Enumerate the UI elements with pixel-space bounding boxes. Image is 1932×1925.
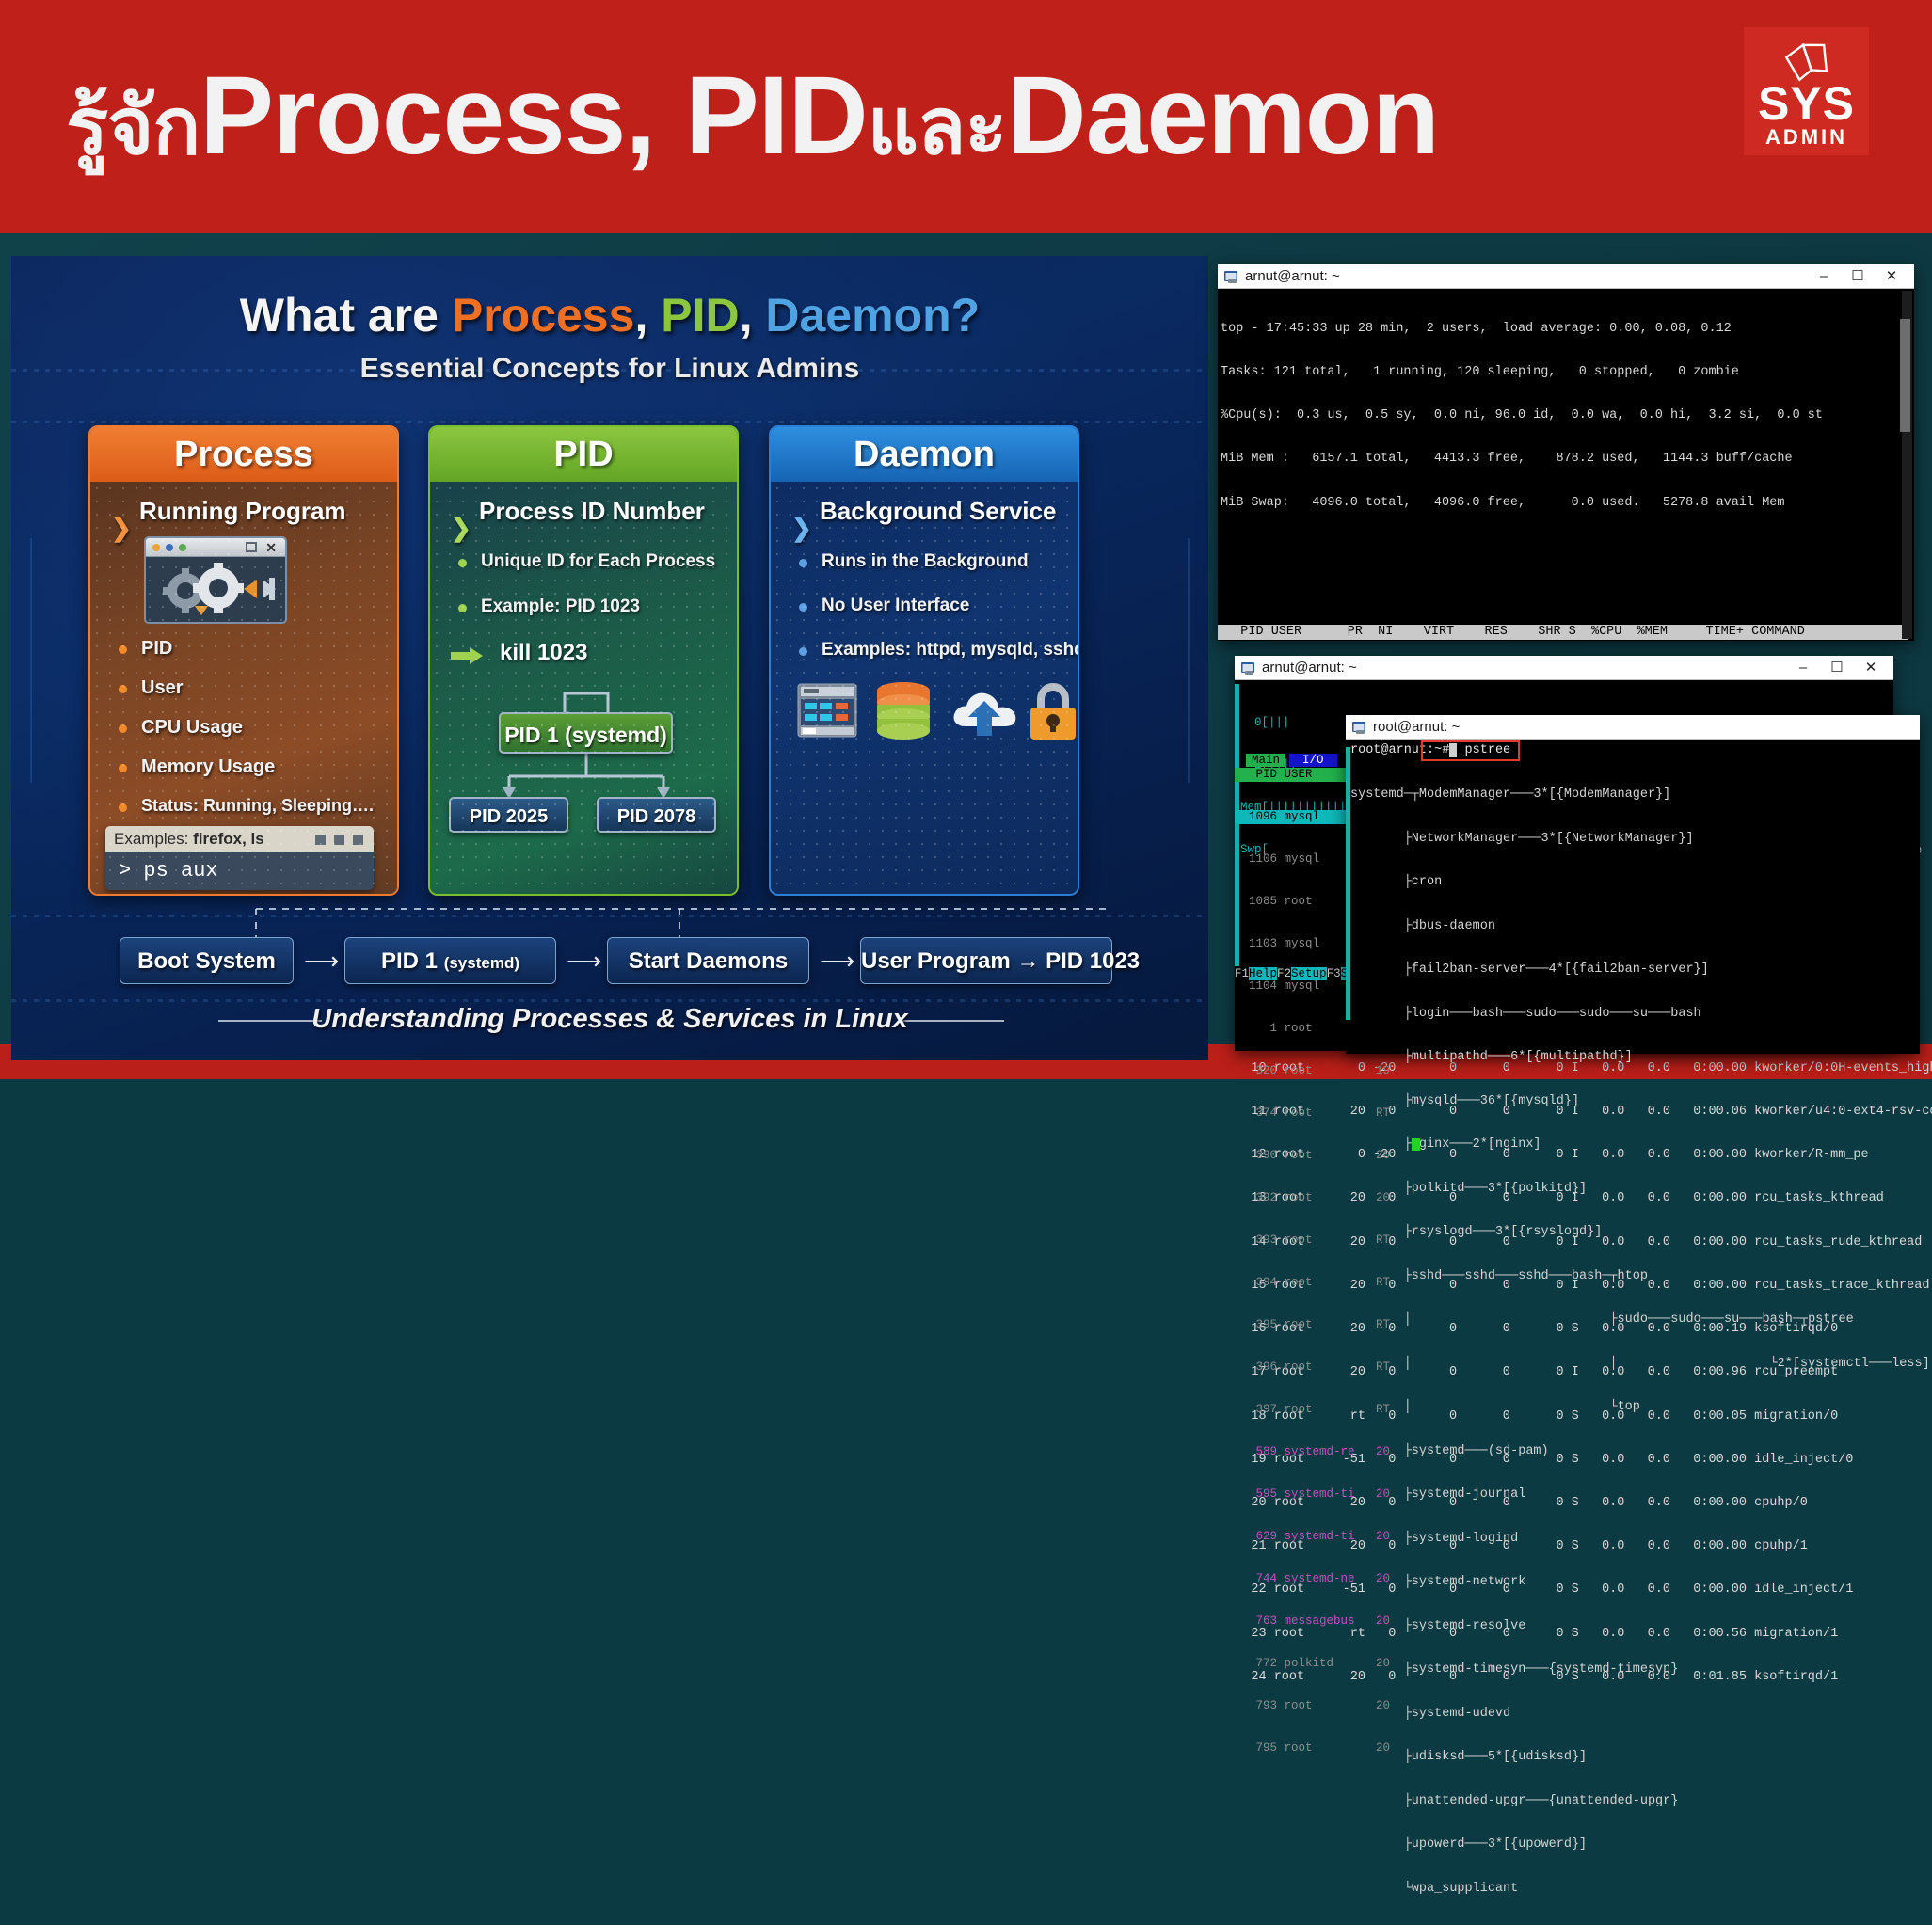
card-daemon-body: ❯ Background Service Runs in the Backgro…: [771, 482, 1078, 896]
pstree-output: systemd─┬ModemManager───3*[{ModemManager…: [1350, 758, 1930, 1925]
titlebar-title-pstree: root@arnut: ~: [1373, 719, 1460, 735]
database-icon: [874, 681, 933, 740]
card-pid-lead-text: Process ID Number: [479, 497, 705, 526]
top-line-cpu: %Cpu(s): 0.3 us, 0.5 sy, 0.0 ni, 96.0 id…: [1221, 408, 1823, 422]
titlebar-htop[interactable]: arnut@arnut: ~ – ☐ ✕: [1235, 656, 1893, 680]
bullet-text: Example: PID 1023: [481, 597, 640, 616]
command-text: ps aux: [143, 859, 217, 883]
list-item: No User Interface: [797, 596, 1070, 616]
list-item: Runs in the Background: [797, 551, 1070, 572]
top-summary-block: top - 17:45:33 up 28 min, 2 users, load …: [1221, 293, 1823, 539]
list-item: PID: [117, 638, 390, 660]
process-lifecycle-flow: Boot System ⟶ PID 1 (systemd) ⟶ Start Da…: [120, 937, 1112, 984]
pstree-line: ├cron: [1350, 875, 1930, 890]
minimize-button[interactable]: –: [1794, 659, 1812, 677]
fkey-f2[interactable]: F2: [1277, 967, 1291, 980]
terminal-strip-command: > ps aux: [105, 852, 374, 890]
card-pid-title: PID: [430, 427, 737, 482]
terminal-window-pstree[interactable]: root@arnut: ~ root@arnut:~# pstree syste…: [1346, 715, 1920, 1054]
top-line-uptime: top - 17:45:33 up 28 min, 2 users, load …: [1221, 322, 1823, 336]
htop-tab-bar[interactable]: MainI/O: [1246, 754, 1337, 768]
card-process-body: ❯ Running Program ✕: [90, 482, 397, 896]
titlebar-title-top: arnut@arnut: ~: [1245, 268, 1340, 284]
flow-step-boot[interactable]: Boot System: [120, 937, 294, 984]
logo-admin-text: ADMIN: [1744, 127, 1869, 148]
fkey-f1[interactable]: F1: [1235, 967, 1249, 980]
title-word-pid: PID: [661, 289, 739, 342]
tree-node-child-2: PID 2078: [597, 797, 716, 833]
fkey-f3[interactable]: F3: [1327, 967, 1341, 980]
pstree-line: ├udisksd───5*[{udisksd}]: [1350, 1750, 1930, 1765]
terminal-icon: [1241, 660, 1256, 676]
pstree-line: ├systemd-network: [1350, 1575, 1930, 1590]
server-window-icon: [797, 683, 857, 738]
bullet-text: CPU Usage: [141, 717, 243, 738]
pstree-line: ├dbus-daemon: [1350, 919, 1930, 934]
close-button[interactable]: ✕: [1861, 659, 1880, 677]
card-daemon-bullets: Runs in the Background No User Interface…: [797, 551, 1070, 660]
title-sep-2: ,: [740, 289, 766, 342]
pstree-line: ├rsyslogd───3*[{rsyslogd}]: [1350, 1225, 1930, 1240]
pid-tree-diagram: PID 1 (systemd) PID 2025 PID 2078: [441, 684, 729, 844]
pstree-line: │ ├sudo───sudo───su───bash─┬pstree: [1350, 1312, 1930, 1328]
pstree-line: │ └top: [1350, 1400, 1930, 1415]
window-icon-titlebar: ✕: [146, 538, 285, 557]
pstree-line: ├systemd-logind: [1350, 1532, 1930, 1547]
titlebar-title-htop: arnut@arnut: ~: [1262, 660, 1357, 676]
arrow-right-icon: [451, 647, 485, 664]
terminal-icon: [1224, 269, 1239, 284]
maximize-button[interactable]: ☐: [1848, 267, 1867, 286]
top-line-tasks: Tasks: 121 total, 1 running, 120 sleepin…: [1221, 365, 1823, 379]
terminal-strip-label: Examples: firefox, ls: [114, 830, 264, 849]
card-pid-bullets: Unique ID for Each Process Example: PID …: [456, 551, 729, 617]
card-process-lead-text: Running Program: [139, 497, 346, 526]
flow-step-user-program[interactable]: User Program → PID 1023: [860, 937, 1112, 984]
title-thai-mid: และ: [868, 82, 1007, 170]
card-process-title: Process: [90, 427, 397, 482]
tree-node-root: PID 1 (systemd): [499, 712, 673, 754]
minimize-button[interactable]: –: [1814, 267, 1833, 286]
pstree-line: ├unattended-upgr───{unattended-upgr}: [1350, 1794, 1930, 1809]
pstree-line: ├login───bash───sudo───sudo───su───bash: [1350, 1007, 1930, 1022]
top-line-mem: MiB Mem : 6157.1 total, 4413.3 free, 878…: [1221, 452, 1823, 466]
page-header: รู้จักProcess, PIDและDaemon SYS ADMIN: [0, 0, 1932, 233]
card-process-bullets: PID User CPU Usage Memory Usage Status: …: [117, 638, 390, 816]
kill-command-text: kill 1023: [500, 640, 587, 666]
flow-step-pid1-label: PID 1: [381, 948, 444, 974]
gears-window-icon: ✕: [144, 536, 287, 624]
pstree-line: ├systemd───(sd-pam): [1350, 1444, 1930, 1459]
pstree-line: ├systemd-journal: [1350, 1487, 1930, 1503]
card-pid: PID ❯ Process ID Number Unique ID for Ea…: [428, 425, 739, 896]
bullet-text: Unique ID for Each Process: [481, 551, 715, 571]
scrollbar-thumb[interactable]: [1900, 319, 1910, 432]
infographic-panel: What are Process, PID, Daemon? Essential…: [11, 256, 1208, 1060]
pstree-line: │ │ └2*[systemctl───less]: [1350, 1357, 1930, 1372]
list-item: Example: PID 1023: [456, 597, 729, 617]
list-item: Status: Running, Sleeping….: [117, 796, 390, 816]
bullet-text: Status: Running, Sleeping….: [141, 796, 374, 815]
infographic-footer: Understanding Processes & Services in Li…: [11, 1004, 1208, 1035]
list-item: Examples: httpd, mysqld, sshd: [797, 640, 1070, 660]
bullet-text: PID: [141, 638, 172, 659]
terminal-strip-titlebar: Examples: firefox, ls: [105, 826, 374, 852]
cloud-upload-icon: [950, 685, 1019, 740]
pstree-line: systemd─┬ModemManager───3*[{ModemManager…: [1350, 787, 1930, 803]
title-sep-1: ,: [634, 289, 661, 342]
bullet-text: Runs in the Background: [822, 551, 1029, 571]
card-pid-body: ❯ Process ID Number Unique ID for Each P…: [430, 482, 737, 896]
sysadmin-logo: SYS ADMIN: [1744, 27, 1869, 155]
terminal-icon: [1352, 720, 1367, 735]
logo-sys-text: SYS: [1744, 80, 1869, 127]
fkey-f2-label[interactable]: Setup: [1291, 967, 1327, 980]
close-button[interactable]: ✕: [1882, 267, 1901, 286]
card-daemon-lead-text: Background Service: [820, 497, 1056, 526]
flow-step-pid1[interactable]: PID 1 (systemd): [344, 937, 556, 984]
bullet-text: User: [141, 677, 183, 698]
pstree-line: ├multipathd───6*[{multipathd}]: [1350, 1050, 1930, 1065]
flow-arrow-icon: ⟶: [567, 953, 601, 968]
chevron-right-icon: ❯: [451, 514, 471, 543]
bullet-text: No User Interface: [822, 596, 969, 615]
list-item: User: [117, 677, 390, 699]
infographic-title: What are Process, PID, Daemon?: [11, 288, 1208, 342]
padlock-icon: [1028, 682, 1078, 740]
scrollbar-track[interactable]: [1902, 291, 1912, 639]
chevron-right-icon: ❯: [111, 514, 132, 543]
pstree-line: ├fail2ban-server───4*[{fail2ban-server}]: [1350, 962, 1930, 978]
terminal-window-top[interactable]: arnut@arnut: ~ – ☐ ✕ top - 17:45:33 up 2…: [1218, 264, 1914, 641]
titlebar-top[interactable]: arnut@arnut: ~ – ☐ ✕: [1218, 264, 1914, 289]
pstree-line: └wpa_supplicant: [1350, 1882, 1930, 1897]
title-question-mark: ?: [951, 289, 981, 342]
tree-node-child-1: PID 2025: [449, 797, 568, 833]
maximize-button[interactable]: ☐: [1828, 659, 1846, 677]
title-main-2: Daemon: [1006, 54, 1439, 178]
pstree-line: ├NetworkManager───3*[{NetworkManager}]: [1350, 832, 1930, 847]
bullet-text: Examples: httpd, mysqld, sshd: [822, 640, 1079, 660]
infographic-subtitle: Essential Concepts for Linux Admins: [11, 353, 1208, 385]
titlebar-pstree[interactable]: root@arnut: ~: [1346, 715, 1920, 740]
pstree-line: ├mysqld───36*[{mysqld}]: [1350, 1094, 1930, 1109]
terminal-cursor: [1412, 1138, 1420, 1151]
list-item: Unique ID for Each Process: [456, 551, 729, 572]
card-daemon-title: Daemon: [771, 427, 1078, 482]
examples-label: Examples:: [114, 830, 188, 848]
flow-arrow-icon: ⟶: [820, 953, 854, 968]
flow-step-pid1-sub: (systemd): [444, 954, 519, 972]
pstree-line: ├upowerd───3*[{upowerd}]: [1350, 1837, 1930, 1853]
tab-io[interactable]: I/O: [1289, 754, 1337, 767]
bullet-text: Memory Usage: [141, 756, 275, 777]
pstree-line: ├nginx───2*[nginx]: [1350, 1137, 1930, 1153]
title-word-process: Process: [452, 289, 635, 342]
process-example-terminal[interactable]: Examples: firefox, ls > ps aux: [105, 826, 374, 890]
tab-main[interactable]: Main: [1246, 754, 1285, 767]
title-thai-prefix: รู้จัก: [66, 82, 200, 170]
daemon-icon-row: [797, 681, 1061, 749]
title-main: Process, PID: [200, 54, 867, 178]
pstree-line: ├systemd-udevd: [1350, 1707, 1930, 1722]
pstree-line: ├systemd-timesyn───{systemd-timesyn}: [1350, 1662, 1930, 1678]
card-process: Process ❯ Running Program ✕: [88, 425, 399, 896]
pstree-line: ├polkitd───3*[{polkitd}]: [1350, 1182, 1930, 1197]
page-title: รู้จักProcess, PIDและDaemon: [66, 36, 1666, 196]
pstree-line: ├systemd-resolve: [1350, 1619, 1930, 1634]
title-word-what: What are: [240, 289, 452, 342]
list-item: CPU Usage: [117, 717, 390, 739]
flow-step-daemons[interactable]: Start Daemons: [607, 937, 809, 984]
top-line-swap: MiB Swap: 4096.0 total, 4096.0 free, 0.0…: [1221, 496, 1823, 510]
pstree-line: ├sshd───sshd───sshd───bash─┬htop: [1350, 1269, 1930, 1284]
top-column-headers: PID USER PR NI VIRT RES SHR S %CPU %MEM …: [1218, 625, 1908, 640]
list-item: Memory Usage: [117, 756, 390, 778]
examples-values: firefox, ls: [193, 830, 264, 848]
fkey-f1-label[interactable]: Help: [1249, 967, 1277, 980]
title-word-daemon: Daemon: [765, 289, 950, 342]
chevron-right-icon: ❯: [791, 514, 812, 543]
card-daemon: Daemon ❯ Background Service Runs in the …: [769, 425, 1079, 896]
flow-arrow-icon: ⟶: [304, 953, 339, 968]
prompt-symbol: >: [119, 859, 131, 883]
